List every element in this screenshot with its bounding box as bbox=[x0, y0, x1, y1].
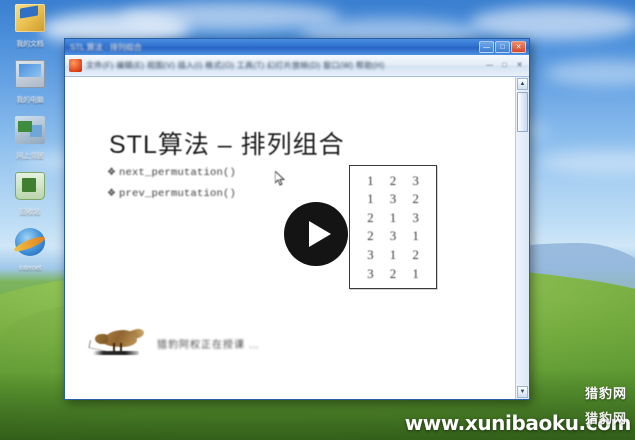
table-cell: 2 bbox=[361, 229, 379, 243]
window-toolbar[interactable]: 文件(F) 编辑(E) 视图(V) 插入(I) 格式(O) 工具(T) 幻灯片放… bbox=[65, 55, 529, 77]
internet-explorer-icon bbox=[15, 228, 45, 256]
table-cell: 1 bbox=[407, 229, 425, 243]
table-cell: 2 bbox=[361, 211, 379, 225]
table-row: 1 2 3 bbox=[350, 171, 436, 190]
table-row: 3 1 2 bbox=[350, 246, 436, 265]
clover-bullet-icon: ❖ bbox=[107, 189, 119, 199]
maximize-button[interactable]: □ bbox=[495, 41, 510, 53]
table-cell: 3 bbox=[361, 248, 379, 262]
desktop-icon-label: 我的文档 bbox=[15, 41, 44, 49]
mascot-base bbox=[93, 351, 139, 355]
window-titlebar[interactable]: STL 算法 - 排列组合 — □ ✕ bbox=[65, 39, 529, 55]
table-cell: 1 bbox=[361, 192, 379, 206]
table-cell: 3 bbox=[361, 267, 379, 281]
desktop-icon-network-places[interactable]: 网上邻居 bbox=[4, 116, 56, 163]
list-item: ❖ prev_permutation() bbox=[107, 188, 337, 200]
table-cell: 3 bbox=[384, 192, 402, 206]
table-cell: 3 bbox=[407, 211, 425, 225]
scrollbar-thumb[interactable] bbox=[517, 92, 528, 132]
window-title: STL 算法 - 排列组合 bbox=[68, 42, 478, 53]
folder-documents-icon bbox=[15, 4, 45, 32]
desktop-icon-label: 网上邻居 bbox=[15, 153, 44, 161]
cheetah-mascot-icon bbox=[89, 327, 145, 357]
table-row: 1 3 2 bbox=[350, 190, 436, 209]
cloud-decoration bbox=[470, 6, 635, 40]
desktop-icon-my-documents[interactable]: 我的文档 bbox=[4, 4, 56, 51]
table-row: 2 3 1 bbox=[350, 227, 436, 246]
desktop-icon-internet-explorer[interactable]: Internet bbox=[4, 228, 56, 275]
computer-icon bbox=[15, 60, 45, 88]
play-triangle-icon bbox=[309, 221, 331, 247]
table-cell: 1 bbox=[384, 211, 402, 225]
cloud-decoration bbox=[545, 60, 635, 86]
clover-bullet-icon: ❖ bbox=[107, 168, 119, 178]
scroll-down-arrow-icon[interactable]: ▼ bbox=[517, 386, 528, 398]
mouse-cursor-icon bbox=[275, 171, 285, 186]
slide-title: STL算法 – 排列组合 bbox=[109, 125, 345, 161]
table-row: 2 1 3 bbox=[350, 208, 436, 227]
bullet-text: prev_permutation() bbox=[119, 188, 236, 200]
bullet-text: next_permutation() bbox=[119, 167, 236, 179]
menu-bar-text[interactable]: 文件(F) 编辑(E) 视图(V) 插入(I) 格式(O) 工具(T) 幻灯片放… bbox=[86, 60, 480, 71]
close-button[interactable]: ✕ bbox=[511, 41, 526, 53]
table-cell: 1 bbox=[361, 174, 379, 188]
cloud-decoration bbox=[120, 2, 340, 30]
application-icon bbox=[69, 59, 82, 72]
desktop-icon-my-computer[interactable]: 我的电脑 bbox=[4, 60, 56, 107]
recycle-bin-icon bbox=[15, 172, 45, 200]
desktop-icon-recycle-bin[interactable]: 回收站 bbox=[4, 172, 56, 219]
table-cell: 3 bbox=[407, 174, 425, 188]
bullet-list: ❖ next_permutation() ❖ prev_permutation(… bbox=[107, 167, 337, 209]
table-cell: 2 bbox=[384, 174, 402, 188]
scroll-up-arrow-icon[interactable]: ▲ bbox=[517, 78, 528, 90]
status-caption: 猎豹阿权正在授课 … bbox=[157, 336, 260, 351]
toolbar-close-icon[interactable]: ✕ bbox=[514, 61, 525, 70]
minimize-button[interactable]: — bbox=[479, 41, 494, 53]
cloud-decoration bbox=[540, 150, 635, 174]
desktop-icon-label: Internet bbox=[18, 265, 42, 273]
mascot-head bbox=[95, 334, 108, 344]
toolbar-minimize-icon[interactable]: — bbox=[484, 61, 495, 70]
desktop-icon-label: 我的电脑 bbox=[15, 97, 44, 105]
table-cell: 1 bbox=[384, 248, 402, 262]
list-item: ❖ next_permutation() bbox=[107, 167, 337, 179]
mascot-leg bbox=[120, 343, 122, 351]
table-cell: 2 bbox=[384, 267, 402, 281]
table-cell: 2 bbox=[407, 248, 425, 262]
vertical-scrollbar[interactable]: ▲ ▼ bbox=[515, 77, 529, 399]
table-cell: 1 bbox=[407, 267, 425, 281]
table-row: 3 2 1 bbox=[350, 264, 436, 283]
network-icon bbox=[15, 116, 45, 144]
table-cell: 2 bbox=[407, 192, 425, 206]
desktop-icon-label: 回收站 bbox=[19, 209, 41, 217]
desktop-icon-list: 我的文档 我的电脑 网上邻居 回收站 Internet bbox=[4, 4, 56, 284]
table-cell: 3 bbox=[384, 229, 402, 243]
permutation-table: 1 2 3 1 3 2 2 1 3 2 3 1 bbox=[349, 165, 437, 289]
play-button[interactable] bbox=[284, 202, 348, 266]
toolbar-maximize-icon[interactable]: □ bbox=[499, 61, 510, 70]
mascot-leg bbox=[113, 343, 115, 351]
